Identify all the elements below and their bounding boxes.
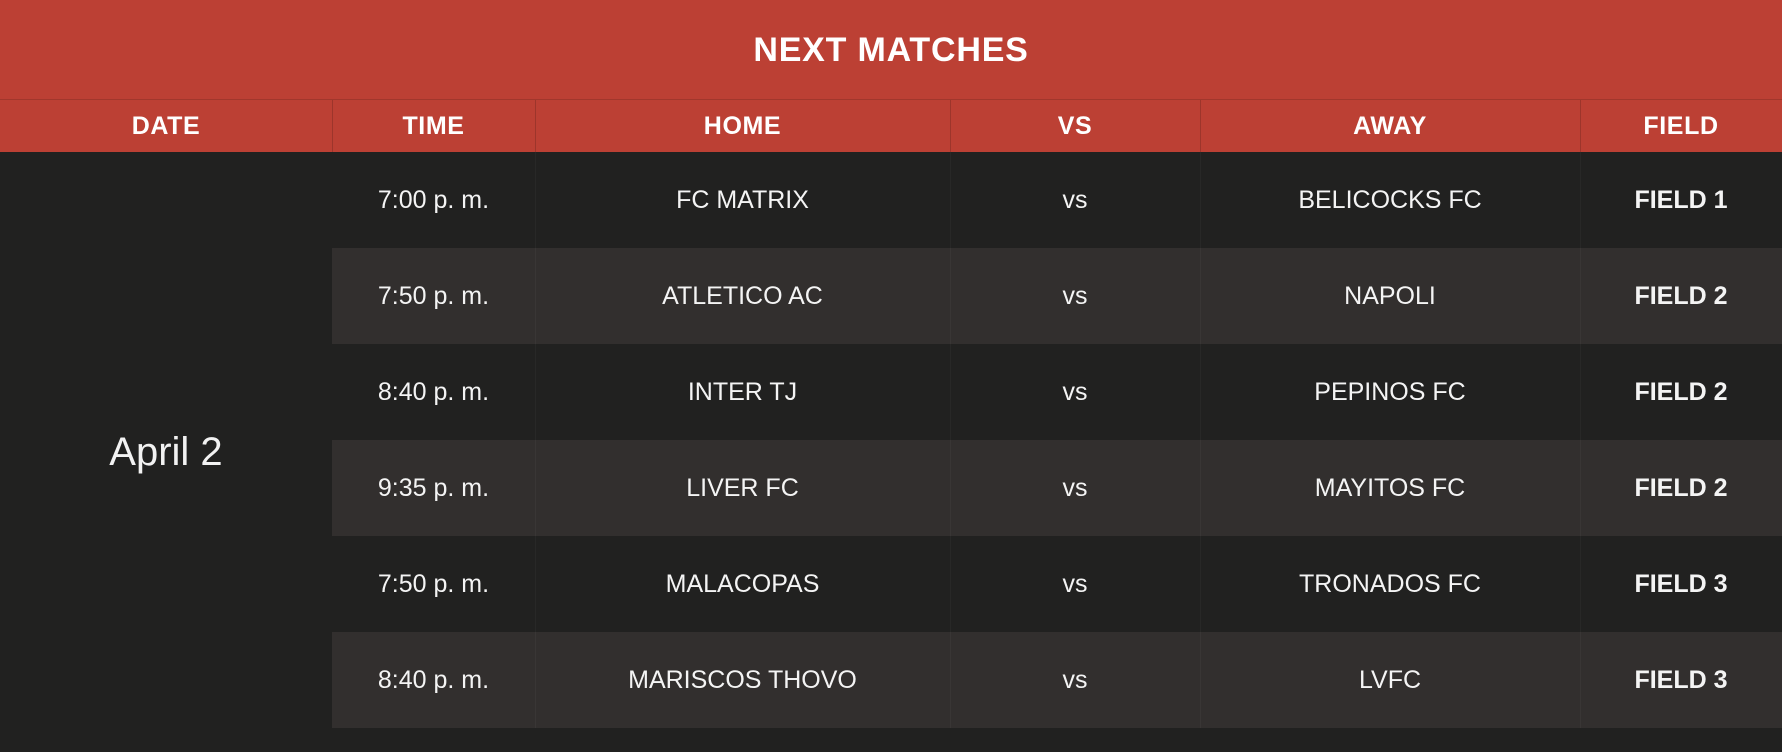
cell-field: FIELD 2 (1580, 248, 1782, 344)
column-header-vs[interactable]: VS (950, 100, 1200, 152)
cell-away: NAPOLI (1200, 248, 1580, 344)
cell-vs: vs (950, 248, 1200, 344)
matches-table-body: April 2 7:00 p. m. FC MATRIX vs BELICOCK… (0, 152, 1782, 752)
date-group-cell: April 2 (0, 152, 332, 752)
table-row[interactable]: 7:50 p. m. MALACOPAS vs TRONADOS FC FIEL… (332, 536, 1782, 632)
widget-title-bar: NEXT MATCHES (0, 0, 1782, 100)
cell-home: FC MATRIX (535, 152, 950, 248)
matches-row-list: 7:00 p. m. FC MATRIX vs BELICOCKS FC FIE… (332, 152, 1782, 752)
cell-time: 7:50 p. m. (332, 248, 535, 344)
page-title: NEXT MATCHES (753, 33, 1028, 67)
cell-away: MAYITOS FC (1200, 440, 1580, 536)
column-header-home[interactable]: HOME (535, 100, 950, 152)
cell-home: ATLETICO AC (535, 248, 950, 344)
cell-time: 7:00 p. m. (332, 152, 535, 248)
table-row[interactable]: 7:50 p. m. ATLETICO AC vs NAPOLI FIELD 2 (332, 248, 1782, 344)
cell-vs: vs (950, 632, 1200, 728)
table-column-header: DATE TIME HOME VS AWAY FIELD (0, 100, 1782, 152)
table-row[interactable]: 7:00 p. m. FC MATRIX vs BELICOCKS FC FIE… (332, 152, 1782, 248)
column-header-time[interactable]: TIME (332, 100, 535, 152)
cell-field: FIELD 2 (1580, 344, 1782, 440)
cell-time: 7:50 p. m. (332, 536, 535, 632)
cell-vs: vs (950, 344, 1200, 440)
column-header-away[interactable]: AWAY (1200, 100, 1580, 152)
column-header-date[interactable]: DATE (0, 100, 332, 152)
table-row[interactable]: 9:35 p. m. LIVER FC vs MAYITOS FC FIELD … (332, 440, 1782, 536)
cell-time: 9:35 p. m. (332, 440, 535, 536)
table-row[interactable]: 8:40 p. m. MARISCOS THOVO vs LVFC FIELD … (332, 632, 1782, 728)
cell-field: FIELD 1 (1580, 152, 1782, 248)
cell-vs: vs (950, 440, 1200, 536)
next-matches-widget: NEXT MATCHES DATE TIME HOME VS AWAY FIEL… (0, 0, 1782, 752)
column-header-field[interactable]: FIELD (1580, 100, 1782, 152)
cell-away: BELICOCKS FC (1200, 152, 1580, 248)
cell-vs: vs (950, 152, 1200, 248)
cell-field: FIELD 2 (1580, 440, 1782, 536)
cell-field: FIELD 3 (1580, 536, 1782, 632)
cell-home: MARISCOS THOVO (535, 632, 950, 728)
cell-away: LVFC (1200, 632, 1580, 728)
cell-away: TRONADOS FC (1200, 536, 1580, 632)
date-group-label: April 2 (109, 432, 222, 472)
cell-away: PEPINOS FC (1200, 344, 1580, 440)
cell-home: MALACOPAS (535, 536, 950, 632)
cell-home: INTER TJ (535, 344, 950, 440)
table-row[interactable]: 8:40 p. m. INTER TJ vs PEPINOS FC FIELD … (332, 344, 1782, 440)
cell-home: LIVER FC (535, 440, 950, 536)
cell-field: FIELD 3 (1580, 632, 1782, 728)
cell-time: 8:40 p. m. (332, 344, 535, 440)
cell-time: 8:40 p. m. (332, 632, 535, 728)
cell-vs: vs (950, 536, 1200, 632)
